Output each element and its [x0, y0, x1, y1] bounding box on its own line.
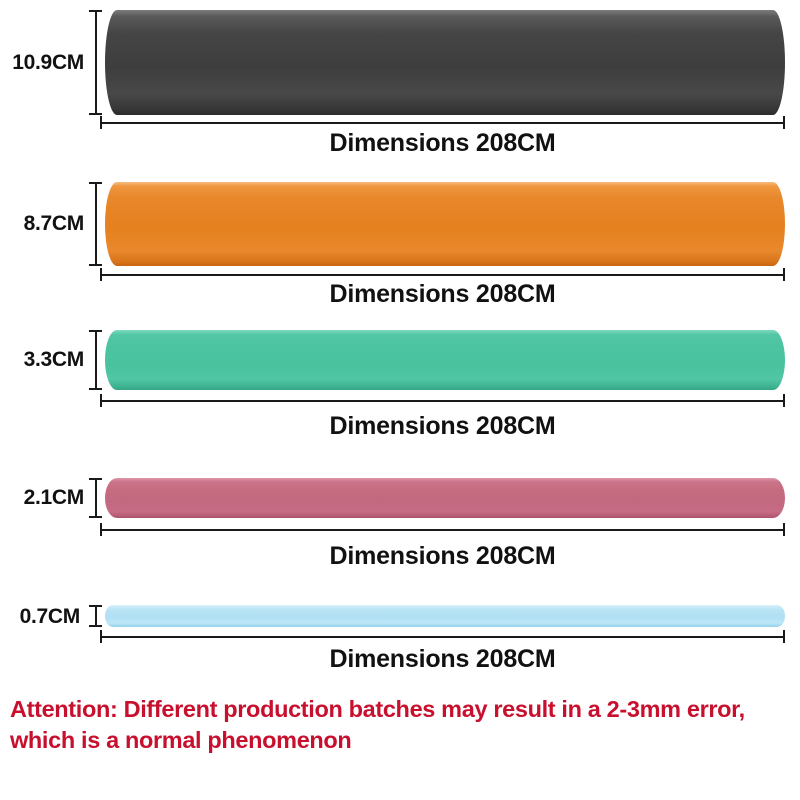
- height-dimension-marker-green: [89, 330, 102, 390]
- height-dimension-marker-black: [89, 10, 102, 115]
- length-label-pink: Dimensions 208CM: [100, 542, 785, 571]
- band-green: [105, 330, 785, 390]
- length-dimension-marker-green: [100, 394, 785, 407]
- height-label-blue: 0.7CM: [0, 605, 80, 629]
- height-dimension-marker-orange: [89, 182, 102, 266]
- band-blue: [105, 605, 785, 627]
- band-row-pink: 2.1CM Dimensions 208CM: [0, 470, 800, 600]
- length-dimension-marker-pink: [100, 523, 785, 536]
- length-label-blue: Dimensions 208CM: [100, 645, 785, 674]
- length-dimension-marker-black: [100, 116, 785, 129]
- attention-note-line-2: which is a normal phenomenon: [10, 725, 796, 756]
- band-pink: [105, 478, 785, 518]
- band-row-blue: 0.7CM Dimensions 208CM: [0, 600, 800, 694]
- attention-note-line-1: Attention: Different production batches …: [10, 694, 796, 725]
- height-label-green: 3.3CM: [0, 348, 84, 372]
- band-row-green: 3.3CM Dimensions 208CM: [0, 320, 800, 470]
- height-dimension-marker-pink: [89, 478, 102, 518]
- height-label-black: 10.9CM: [0, 51, 84, 75]
- length-label-orange: Dimensions 208CM: [100, 280, 785, 309]
- attention-note: Attention: Different production batches …: [10, 694, 796, 756]
- band-row-orange: 8.7CM Dimensions 208CM: [0, 170, 800, 320]
- height-label-pink: 2.1CM: [0, 486, 84, 510]
- band-orange: [105, 182, 785, 266]
- band-black: [105, 10, 785, 115]
- band-dimensions-diagram: 10.9CM Dimensions 208CM 8.7CM Dimensions…: [0, 0, 800, 800]
- length-label-black: Dimensions 208CM: [100, 129, 785, 158]
- length-dimension-marker-blue: [100, 630, 785, 643]
- band-row-black: 10.9CM Dimensions 208CM: [0, 0, 800, 170]
- height-label-orange: 8.7CM: [0, 212, 84, 236]
- length-label-green: Dimensions 208CM: [100, 412, 785, 441]
- height-dimension-marker-blue: [89, 605, 102, 627]
